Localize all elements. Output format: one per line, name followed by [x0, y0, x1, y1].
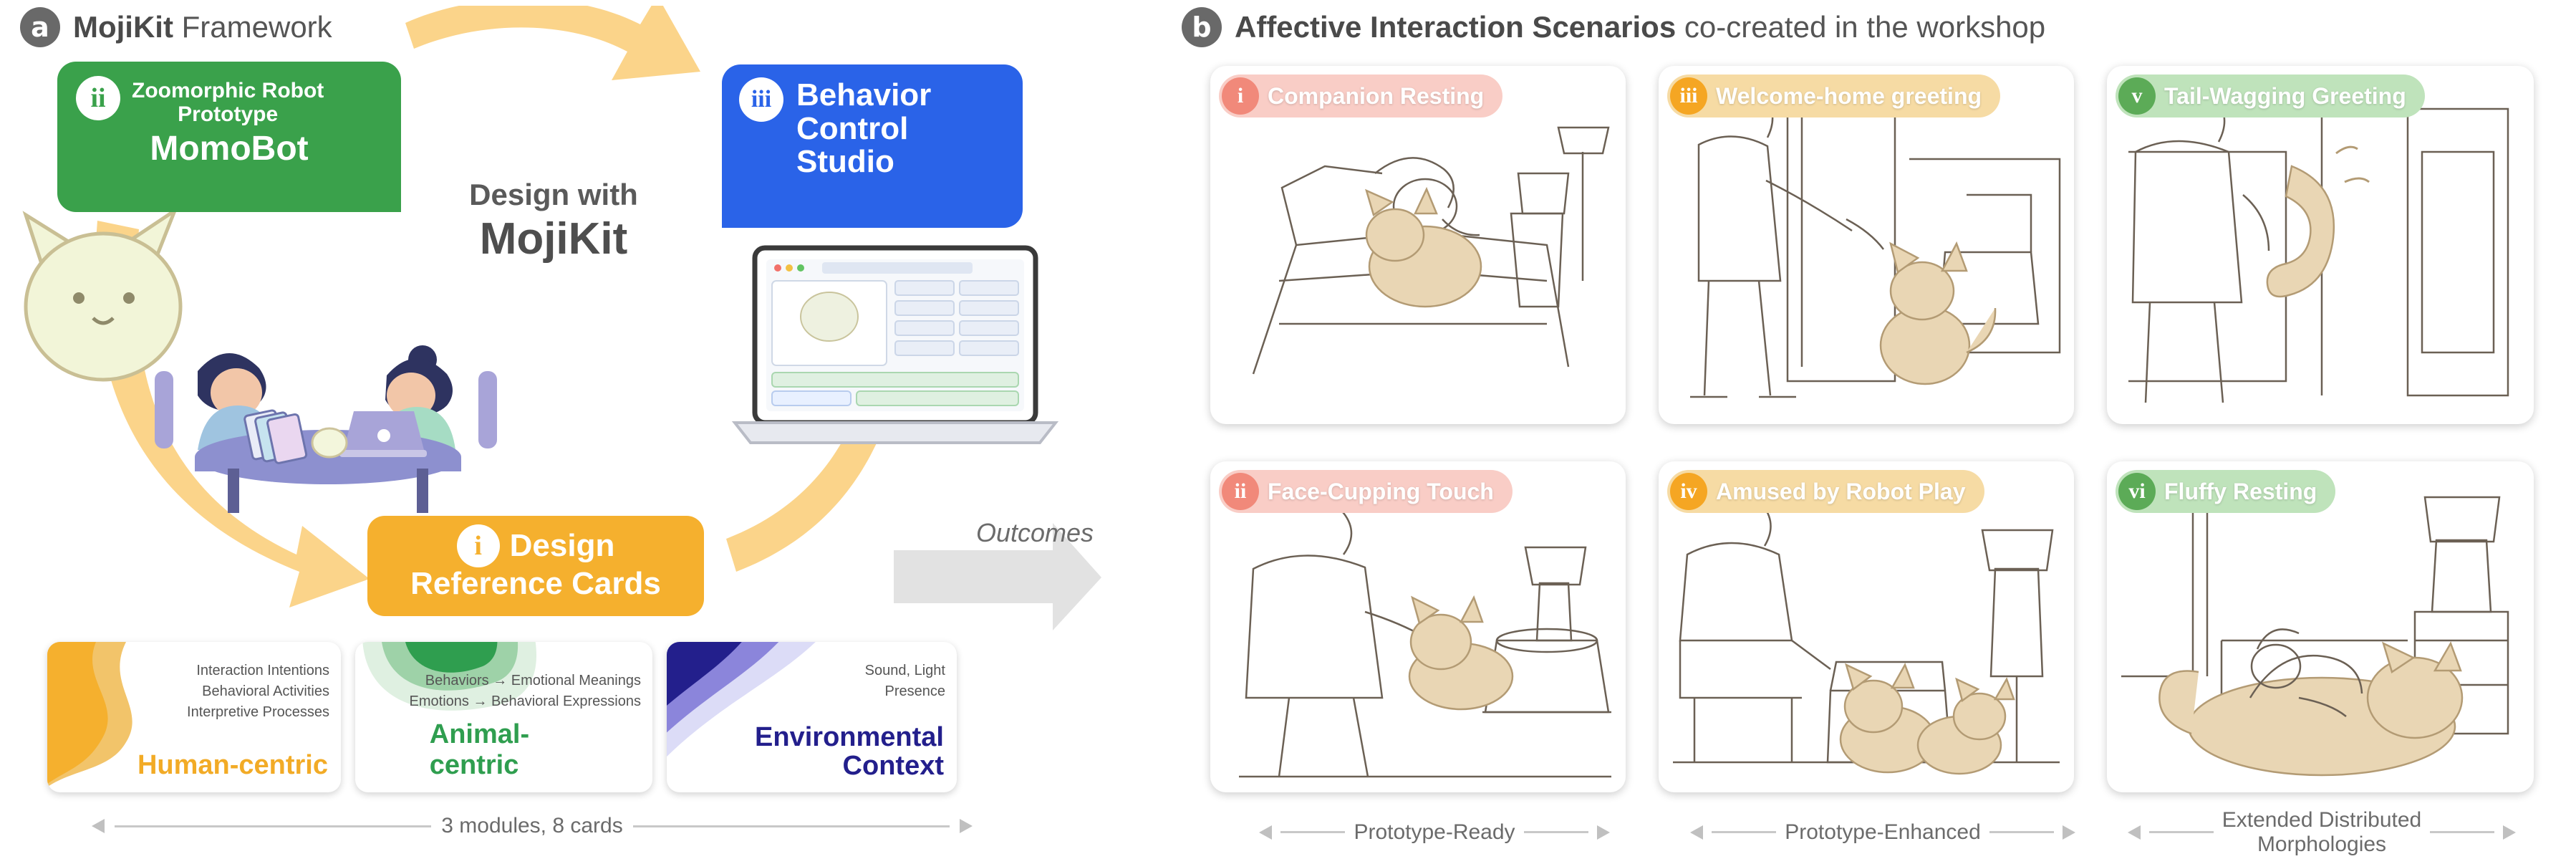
badge-momobot-subtitle-line2: Prototype [132, 102, 324, 126]
caption-arrow-right-icon [960, 819, 973, 833]
panel-a-caption: 3 modules, 8 cards [92, 814, 973, 838]
scenario-card-tail-wagging-greeting[interactable]: v Tail-Wagging Greeting [2107, 66, 2534, 424]
badge-bcs-title-line3: Studio [796, 145, 931, 179]
badge-bcs-title: Behavior Control Studio [796, 79, 931, 179]
animal-centric-line-1: Behaviors → Emotional Meanings [410, 671, 641, 691]
module-card-human-centric[interactable]: Interaction Intentions Behavioral Activi… [47, 642, 341, 792]
environmental-context-lines: Sound, Light Presence [865, 661, 945, 702]
caption-rule-left [115, 825, 431, 827]
environmental-context-title-line2: Context [755, 752, 944, 781]
scenario-text-companion-resting: Companion Resting [1268, 83, 1484, 110]
badge-behavior-control-studio[interactable]: iii Behavior Control Studio [722, 64, 1023, 228]
caption-text-edm-line2: Morphologies [2222, 832, 2422, 857]
scenario-label-amused-by-robot-play: iv Amused by Robot Play [1667, 470, 1984, 513]
caption-b-arrow-left2-icon [1690, 825, 1703, 840]
badge-bcs-title-line1: Behavior [796, 79, 931, 112]
panel-b-captions: Prototype-Ready Prototype-Enhanced Exten… [1210, 808, 2542, 856]
module-card-environmental-context[interactable]: Sound, Light Presence Environmental Cont… [667, 642, 957, 792]
caption-b-rule-5 [2149, 831, 2214, 833]
animal-centric-lines: Behaviors → Emotional Meanings Emotions … [410, 671, 641, 712]
caption-arrow-left-icon [92, 819, 105, 833]
panel-b-header: b Affective Interaction Scenarios co-cre… [1182, 7, 2045, 47]
scenario-card-welcome-home-greeting[interactable]: iii Welcome-home greeting [1659, 66, 2074, 424]
environmental-context-title: Environmental Context [755, 724, 944, 781]
scenario-label-face-cupping-touch: ii Face-Cupping Touch [1219, 470, 1513, 513]
animal-centric-line-2: Emotions → Behavioral Expressions [410, 691, 641, 712]
human-centric-line-3: Interpretive Processes [187, 702, 329, 723]
sketch-welcome-home-greeting [1659, 66, 2074, 424]
scenario-roman-iv: iv [1670, 473, 1707, 510]
caption-b-arrow-right3-icon [2503, 825, 2516, 840]
caption-b-arrow-left-icon [1259, 825, 1272, 840]
module-card-animal-centric[interactable]: Behaviors → Emotional Meanings Emotions … [355, 642, 652, 792]
badge-bcs-row: iii Behavior Control Studio [739, 77, 1005, 179]
center-heading-line2: MojiKit [385, 213, 722, 264]
environmental-context-title-line1: Environmental [755, 724, 944, 752]
panel-b-title-rest: co-created in the workshop [1676, 10, 2045, 44]
panel-a-letter: a [20, 7, 60, 47]
panel-a-header: a MojiKit Framework [20, 7, 332, 47]
badge-zoomorphic-robot-prototype[interactable]: ii Zoomorphic Robot Prototype MomoBot [57, 62, 401, 212]
human-centric-title: Human-centric [138, 750, 328, 781]
caption-b-rule-2 [1524, 831, 1588, 833]
human-centric-lines: Interaction Intentions Behavioral Activi… [187, 661, 329, 723]
caption-prototype-enhanced: Prototype-Enhanced [1659, 820, 2107, 845]
badge-drc-title-line2: Reference Cards [382, 566, 690, 602]
caption-text-extended-distributed-morphologies: Extended Distributed Morphologies [2222, 808, 2422, 856]
badge-bcs-title-line2: Control [796, 112, 931, 146]
scenario-text-amused-by-robot-play: Amused by Robot Play [1716, 479, 1966, 505]
panel-b-title-bold: Affective Interaction Scenarios [1235, 10, 1676, 44]
scenario-label-fluffy-resting: vi Fluffy Resting [2116, 470, 2335, 513]
roman-numeral-i: i [457, 524, 500, 567]
scenario-roman-vi: vi [2118, 473, 2156, 510]
scenario-text-fluffy-resting: Fluffy Resting [2164, 479, 2317, 505]
outcomes-label: Outcomes [976, 518, 1094, 548]
caption-b-arrow-left3-icon [2128, 825, 2141, 840]
badge-design-reference-cards[interactable]: i Design Reference Cards [367, 516, 704, 616]
scenario-text-tail-wagging-greeting: Tail-Wagging Greeting [2164, 83, 2406, 110]
caption-text-prototype-enhanced: Prototype-Enhanced [1785, 820, 1981, 845]
scenario-label-welcome-home-greeting: iii Welcome-home greeting [1667, 75, 2000, 117]
badge-momobot-row: ii Zoomorphic Robot Prototype [76, 76, 382, 126]
panel-a-title: MojiKit Framework [73, 10, 332, 44]
caption-b-arrow-mid2-icon [2063, 825, 2075, 840]
scenario-text-face-cupping-touch: Face-Cupping Touch [1268, 479, 1494, 505]
sketch-companion-resting [1210, 66, 1626, 424]
scenario-roman-iii: iii [1670, 77, 1707, 115]
environmental-context-line-1: Sound, Light [865, 661, 945, 681]
center-heading-line1: Design with [385, 178, 722, 212]
workshop-illustration [142, 284, 514, 520]
scenario-card-fluffy-resting[interactable]: vi Fluffy Resting [2107, 461, 2534, 792]
panel-b-title: Affective Interaction Scenarios co-creat… [1235, 10, 2045, 44]
badge-drc-row: i Design [382, 524, 690, 567]
scenario-roman-ii: ii [1222, 473, 1259, 510]
panel-a-mojikit-framework: a MojiKit Framework [13, 6, 1101, 858]
center-heading: Design with MojiKit [385, 178, 722, 264]
scenario-roman-i: i [1222, 77, 1259, 115]
panel-a-title-bold: MojiKit [73, 10, 173, 44]
scenario-roman-v: v [2118, 77, 2156, 115]
human-centric-line-1: Interaction Intentions [187, 661, 329, 681]
scenario-label-tail-wagging-greeting: v Tail-Wagging Greeting [2116, 75, 2425, 117]
figure-root: a MojiKit Framework [0, 0, 2576, 864]
badge-drc-title-line1: Design [510, 528, 615, 564]
sketch-tail-wagging-greeting [2107, 66, 2534, 424]
caption-b-rule-4 [1989, 831, 2054, 833]
badge-momobot-title: MomoBot [76, 129, 382, 168]
caption-text-edm-line1: Extended Distributed [2222, 808, 2422, 832]
panel-a-caption-text: 3 modules, 8 cards [441, 814, 622, 838]
badge-momobot-subtitle-line1: Zoomorphic Robot [132, 79, 324, 102]
caption-rule-right [633, 825, 950, 827]
caption-b-rule-3 [1712, 831, 1776, 833]
animal-centric-title: Animal-centric [430, 719, 579, 781]
scenario-card-face-cupping-touch[interactable]: ii Face-Cupping Touch [1210, 461, 1626, 792]
panel-b-letter: b [1182, 7, 1222, 47]
panel-a-title-rest: Framework [173, 10, 332, 44]
caption-prototype-ready: Prototype-Ready [1210, 820, 1659, 845]
scenario-text-welcome-home-greeting: Welcome-home greeting [1716, 83, 1982, 110]
scenario-card-amused-by-robot-play[interactable]: iv Amused by Robot Play [1659, 461, 2074, 792]
caption-extended-distributed-morphologies: Extended Distributed Morphologies [2107, 808, 2537, 856]
caption-b-rule-1 [1280, 831, 1345, 833]
roman-numeral-ii: ii [76, 76, 120, 120]
badge-momobot-subtitle: Zoomorphic Robot Prototype [132, 76, 324, 126]
environmental-context-line-2: Presence [865, 681, 945, 702]
caption-b-arrow-mid-icon [1597, 825, 1610, 840]
roman-numeral-iii: iii [739, 77, 783, 122]
scenario-label-companion-resting: i Companion Resting [1219, 75, 1502, 117]
scenario-card-companion-resting[interactable]: i Companion Resting [1210, 66, 1626, 424]
caption-text-prototype-ready: Prototype-Ready [1354, 820, 1515, 845]
behavior-control-studio-laptop[interactable] [729, 242, 1066, 457]
panel-b-affective-interaction-scenarios: b Affective Interaction Scenarios co-cre… [1174, 6, 2571, 858]
human-centric-line-2: Behavioral Activities [187, 681, 329, 702]
caption-b-rule-6 [2430, 831, 2494, 833]
